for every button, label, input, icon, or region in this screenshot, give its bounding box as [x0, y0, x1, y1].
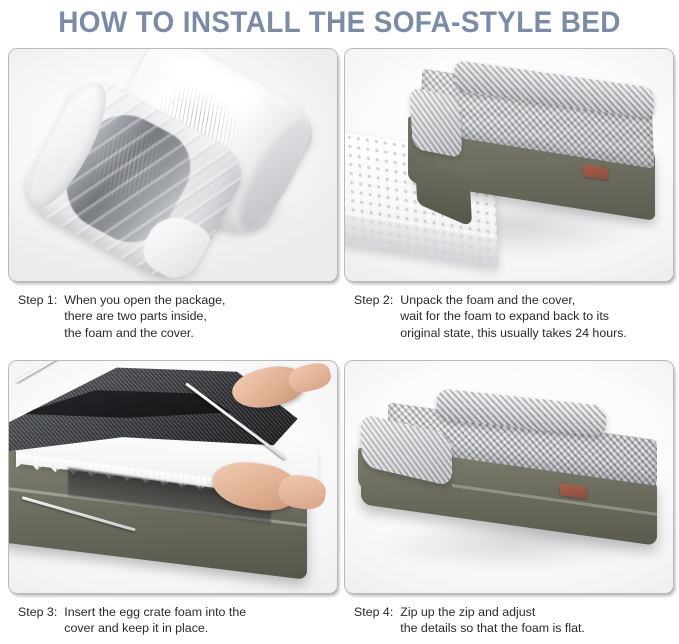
step-card-1: Step 1: When you open the package, there…	[8, 48, 338, 341]
step-4-photo	[344, 360, 674, 594]
step-1-label: Step 1:	[18, 292, 64, 341]
step-3-line-1: Insert the egg crate foam into the	[64, 604, 338, 620]
bed-cover	[411, 77, 660, 230]
step-1-line-2: there are two parts inside,	[64, 308, 338, 324]
step-1-line-3: the foam and the cover.	[64, 325, 338, 341]
left-armrest	[409, 87, 462, 159]
finished-sofa-bed	[358, 403, 660, 556]
step-card-4: Step 4: Zip up the zip and adjust the de…	[344, 360, 674, 637]
step-4-line-1: Zip up the zip and adjust	[400, 604, 674, 620]
step-2-line-2: wait for the foam to expand back to its	[400, 308, 674, 324]
step-2-line-1: Unpack the foam and the cover,	[400, 292, 674, 308]
step-3-line-2: cover and keep it in place.	[64, 620, 338, 636]
step-4-line-2: the details so that the foam is flat.	[400, 620, 674, 636]
instruction-sheet: HOW TO INSTALL THE SOFA-STYLE BED	[0, 0, 679, 644]
step-2-photo	[344, 48, 674, 282]
step-1-photo	[8, 48, 338, 282]
vacuum-rolls-illustration	[9, 49, 337, 281]
insert-foam-illustration	[9, 361, 337, 593]
step-card-2: Step 2: Unpack the foam and the cover, w…	[344, 48, 674, 341]
page-title: HOW TO INSTALL THE SOFA-STYLE BED	[24, 0, 655, 44]
step-2-label: Step 2:	[354, 292, 400, 341]
foam-and-cover-illustration	[345, 49, 673, 281]
finished-bed-illustration	[345, 361, 673, 593]
step-2-caption: Step 2: Unpack the foam and the cover, w…	[344, 292, 674, 341]
step-2-text: Unpack the foam and the cover, wait for …	[400, 292, 674, 341]
step-4-caption: Step 4: Zip up the zip and adjust the de…	[344, 604, 674, 637]
step-3-label: Step 3:	[18, 604, 64, 637]
step-4-label: Step 4:	[354, 604, 400, 637]
step-3-caption: Step 3: Insert the egg crate foam into t…	[8, 604, 338, 637]
step-1-line-1: When you open the package,	[64, 292, 338, 308]
step-1-caption: Step 1: When you open the package, there…	[8, 292, 338, 341]
step-3-text: Insert the egg crate foam into the cover…	[64, 604, 338, 637]
step-3-photo	[8, 360, 338, 594]
step-2-line-3: original state, this usually takes 24 ho…	[400, 325, 674, 341]
steps-grid: Step 1: When you open the package, there…	[0, 48, 679, 644]
step-card-3: Step 3: Insert the egg crate foam into t…	[8, 360, 338, 637]
step-4-text: Zip up the zip and adjust the details so…	[400, 604, 674, 637]
step-1-text: When you open the package, there are two…	[64, 292, 338, 341]
